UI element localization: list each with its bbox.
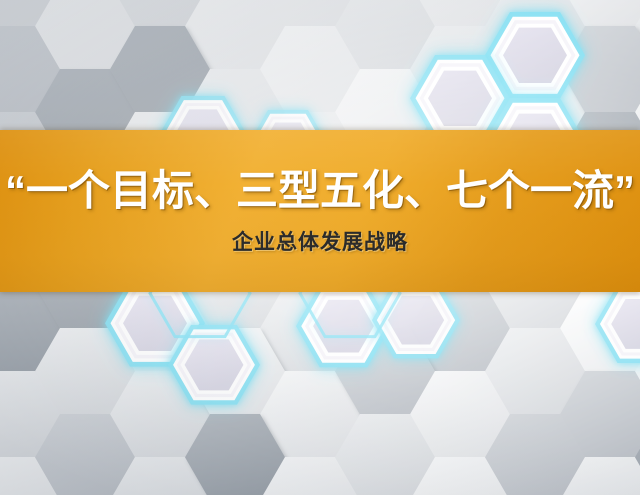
- page-title: “一个目标、三型五化、七个一流”: [5, 170, 635, 212]
- title-banner: “一个目标、三型五化、七个一流” 企业总体发展战略: [0, 130, 640, 292]
- presentation-slide: “一个目标、三型五化、七个一流” 企业总体发展战略: [0, 0, 640, 495]
- page-subtitle: 企业总体发展战略: [232, 232, 408, 253]
